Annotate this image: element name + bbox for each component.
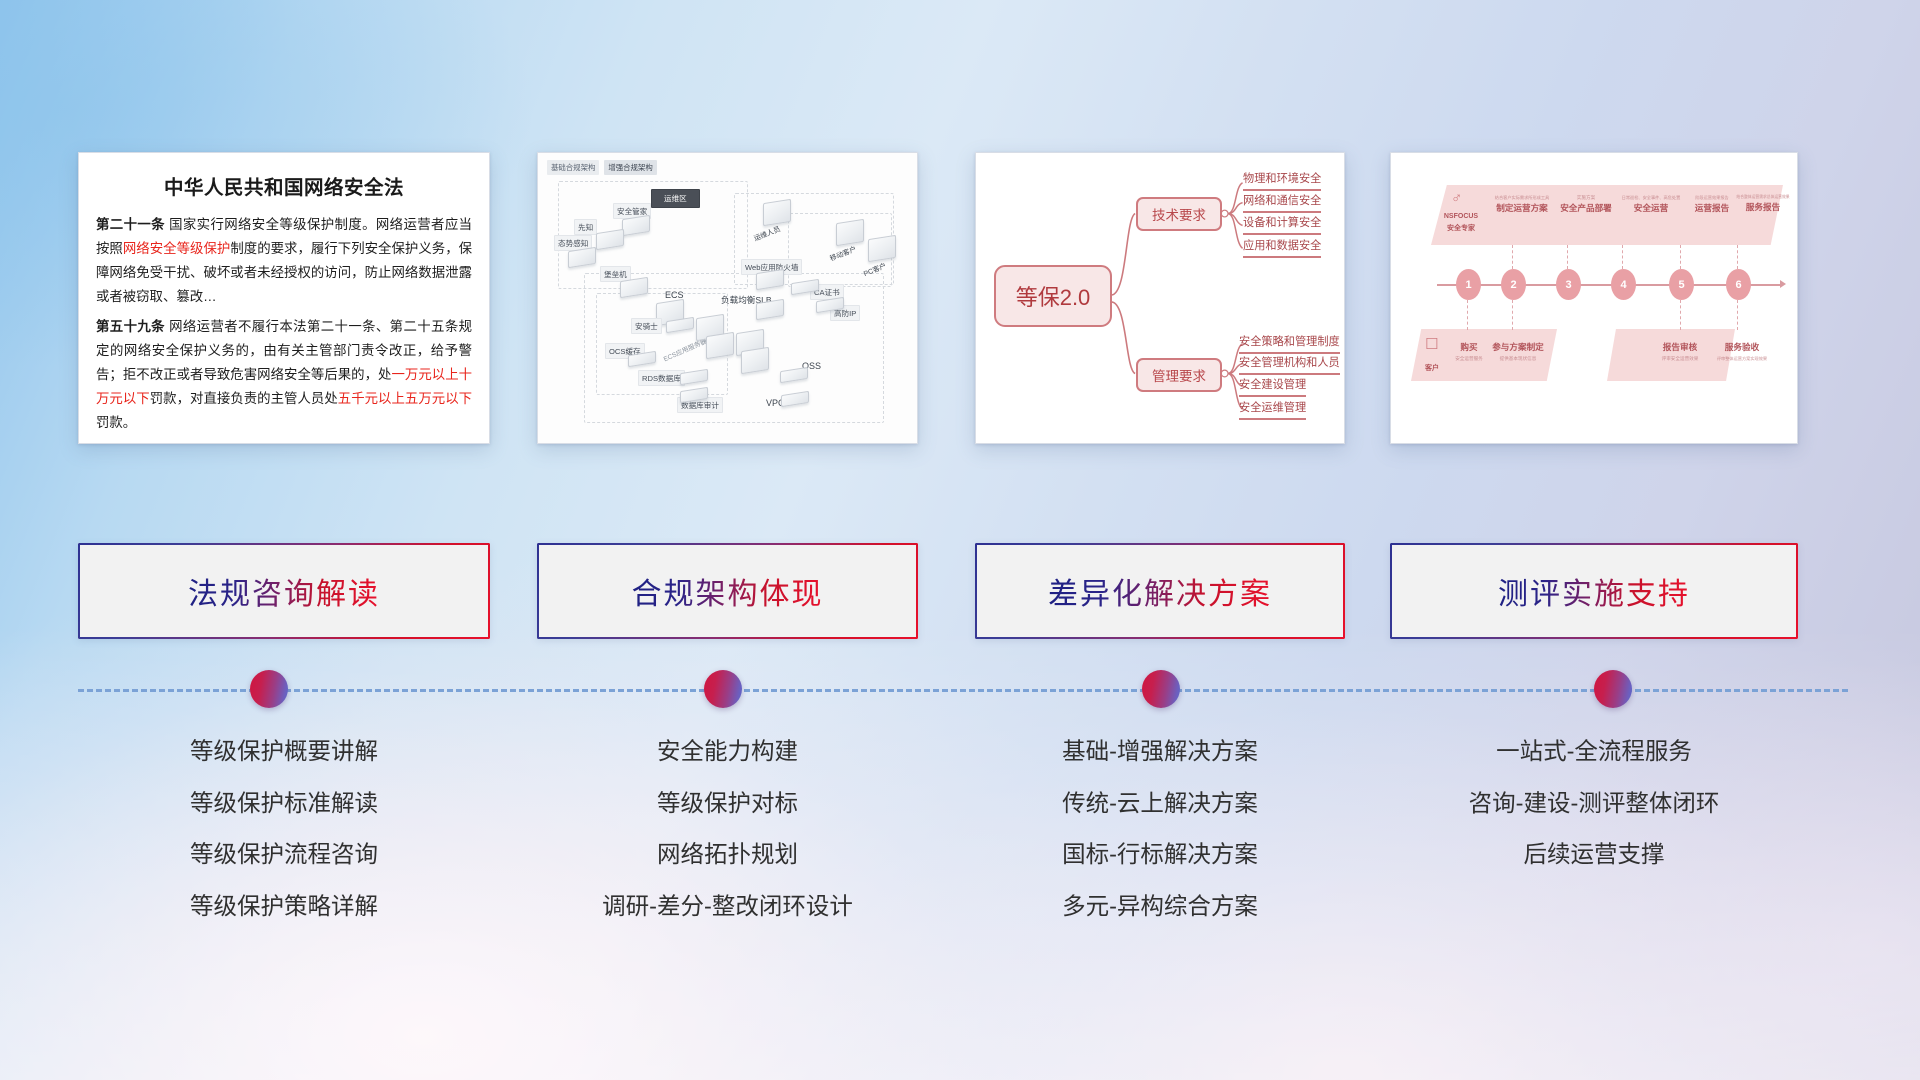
connector-dash-b1 [1467,300,1468,330]
node-icon-mobile [836,219,864,246]
mindmap-branch-management[interactable]: 管理要求 [1136,358,1222,392]
step-bottom-6-sub: 评审整体运营方案实现效果 [1709,356,1775,362]
node-icon-awareness [568,247,596,268]
node-icon-butler [622,215,650,236]
list-item: 网络拓扑规划 [537,843,918,867]
connector-dash-3 [1567,245,1568,269]
node-icon-gaofang [816,297,844,313]
connector-dash-b2 [1512,300,1513,330]
section-items-3: 基础-增强解决方案 传统-云上解决方案 国标-行标解决方案 多元-异构综合方案 [975,740,1345,946]
article-59-seg-4-highlight: 五千元以上五万元以下 [338,391,472,406]
mindmap-leaf-tech-3: 设备和计算安全 [1243,214,1321,235]
mindmap-leaf-mgmt-4: 安全运维管理 [1239,399,1306,420]
list-item: 基础-增强解决方案 [975,740,1345,764]
list-item: 等级保护概要讲解 [78,740,490,764]
label-xianzhi: 先知 [574,219,597,235]
image-cards-row: 中华人民共和国网络安全法 第二十一条 国家实行网络安全等级保护制度。网络运营者应… [0,152,1920,444]
step-bottom-1-title: 购买 [1447,341,1491,353]
law-article-59: 第五十九条 网络运营者不履行本法第二十一条、第二十五条规定的网络安全保护义务的，… [96,315,472,434]
mindmap-leaf-tech-2: 网络和通信安全 [1243,192,1321,213]
law-card-title: 中华人民共和国网络安全法 [96,171,472,200]
service-timeline-card[interactable]: ♂ NSFOCUS 安全专家 结合客户实际需求所形成工具 制定运营方案 实施方案… [1390,152,1798,444]
brand-subtitle: 安全专家 [1433,223,1489,233]
mindmap-leaf-tech-4: 应用和数据安全 [1243,237,1321,258]
timeline-dashed-line [78,689,1848,692]
node-icon-db-audit [680,387,708,403]
section-items-4: 一站式-全流程服务 咨询-建设-测评整体闭环 后续运营支撑 [1390,740,1798,895]
connector-dash-2 [1512,245,1513,269]
node-icon-rds [680,369,708,385]
step-bottom-5-sub: 评审安全运营效果 [1651,356,1709,362]
connector-dash-5 [1680,245,1681,269]
section-items-1: 等级保护概要讲解 等级保护标准解读 等级保护流程咨询 等级保护策略详解 [78,740,490,946]
timeline-number-1[interactable]: 1 [1456,269,1481,300]
mindmap-leaf-tech-1: 物理和环境安全 [1243,170,1321,191]
list-item: 传统-云上解决方案 [975,792,1345,816]
mindmap-leaf-mgmt-3: 安全建设管理 [1239,376,1306,397]
section-title-text-3: 差异化解决方案 [1048,569,1272,613]
article-21-seg-2-highlight: 网络安全等级保护 [123,241,230,256]
label-anqishi: 安骑士 [631,318,662,334]
article-59-seg-5: 罚款。 [96,415,136,430]
tab-basic-compliance[interactable]: 基础合规架构 [547,160,599,175]
brand-name: NSFOCUS [1433,213,1489,220]
step-bottom-1: 购买 安全运营服务 [1447,341,1491,363]
expert-person-icon: ♂ [1451,191,1462,206]
timeline-number-2[interactable]: 2 [1501,269,1526,300]
connector-dash-b6 [1737,300,1738,330]
timeline-number-3[interactable]: 3 [1556,269,1581,300]
section-items-2: 安全能力构建 等级保护对标 网络拓扑规划 调研-差分-整改闭环设计 [537,740,918,946]
label-rds-database: RDS数据库 [638,370,685,386]
section-titles-row: 法规咨询解读 合规架构体现 差异化解决方案 测评实施支持 [0,543,1920,639]
step-top-2-title: 制定运营方案 [1487,202,1557,214]
list-item: 咨询-建设-测评整体闭环 [1390,792,1798,816]
list-item: 后续运营支撑 [1390,843,1798,867]
step-bottom-5-title: 报告审核 [1651,341,1709,353]
list-item: 等级保护标准解读 [78,792,490,816]
section-title-text-4: 测评实施支持 [1498,569,1690,613]
architecture-tabs[interactable]: 基础合规架构 增强合规架构 [547,160,657,175]
article-21-label: 第二十一条 [96,217,165,232]
mindmap-branch-technical[interactable]: 技术要求 [1136,197,1222,231]
section-title-box-1[interactable]: 法规咨询解读 [78,543,490,639]
list-item: 一站式-全流程服务 [1390,740,1798,764]
timeline-number-6[interactable]: 6 [1726,269,1751,300]
mindmap-leaf-mgmt-1: 安全策略和管理制度 [1239,333,1340,354]
customer-person-icon: ☐ [1425,337,1438,352]
step-top-4: 日常巡检、安全事件、高危处置 安全运营 [1611,195,1691,214]
dengbao-mindmap-card[interactable]: 等保2.0 技术要求 管理要求 物理和环境安全 网络和通信安全 设备和计算安全 … [975,152,1345,444]
section-title-box-2[interactable]: 合规架构体现 [537,543,918,639]
timeline-node-2[interactable] [704,670,742,708]
node-icon-ocs [628,351,656,367]
node-icon-pc [868,235,896,262]
mindmap-leaf-mgmt-2: 安全管理机构和人员 [1239,354,1340,375]
law-article-21: 第二十一条 国家实行网络安全等级保护制度。网络运营者应当按照网络安全等级保护制度… [96,213,472,308]
timeline-number-5[interactable]: 5 [1669,269,1694,300]
node-icon-xianzhi [596,229,624,250]
section-title-text-2: 合规架构体现 [632,569,824,613]
step-bottom-2: 参与方案制定 提供基本现状信息 [1487,341,1549,363]
step-top-2: 结合客户实际需求所形成工具 制定运营方案 [1487,195,1557,214]
node-icon-app-4 [741,347,769,374]
timeline-arrow-icon [1780,280,1786,288]
step-top-6-sub: 结合整体运营需求总体运营效果 [1733,195,1793,200]
connector-dash-b5 [1680,300,1681,330]
list-item: 等级保护策略详解 [78,895,490,919]
node-icon-oss [780,367,808,383]
node-icon-ca [791,279,819,295]
node-icon-anqishi [666,317,694,333]
article-59-seg-3: 罚款，对直接负责的主管人员处 [150,391,338,406]
connector-dash-6 [1737,245,1738,269]
list-item: 多元-异构综合方案 [975,895,1345,919]
timeline-number-4[interactable]: 4 [1611,269,1636,300]
step-top-4-sub: 日常巡检、安全事件、高危处置 [1611,195,1691,201]
connector-dash-4 [1622,245,1623,269]
cybersecurity-law-card[interactable]: 中华人民共和国网络安全法 第二十一条 国家实行网络安全等级保护制度。网络运营者应… [78,152,490,444]
timeline-node-1[interactable] [250,670,288,708]
list-item: 调研-差分-整改闭环设计 [537,895,918,919]
section-title-box-4[interactable]: 测评实施支持 [1390,543,1798,639]
timeline-node-3[interactable] [1142,670,1180,708]
step-bottom-6: 服务验收 评审整体运营方案实现效果 [1709,341,1775,363]
step-bottom-1-sub: 安全运营服务 [1447,356,1491,362]
step-top-6: 结合整体运营需求总体运营效果 服务报告 [1733,195,1793,213]
timeline-node-4[interactable] [1594,670,1632,708]
list-item: 等级保护流程咨询 [78,843,490,867]
node-icon-waf [756,269,784,290]
slide-content: 中华人民共和国网络安全法 第二十一条 国家实行网络安全等级保护制度。网络运营者应… [0,0,1920,1080]
step-bottom-6-title: 服务验收 [1709,341,1775,353]
step-top-6-title: 服务报告 [1733,201,1793,213]
mindmap-root-node[interactable]: 等保2.0 [994,265,1112,327]
node-icon-bastion [620,277,648,298]
step-top-4-title: 安全运营 [1611,202,1691,214]
list-item: 国标-行标解决方案 [975,843,1345,867]
timeline-strip [0,660,1920,720]
customer-label: 客户 [1415,363,1449,373]
step-top-2-sub: 结合客户实际需求所形成工具 [1487,195,1557,201]
step-bottom-5: 报告审核 评审安全运营效果 [1651,341,1709,363]
node-icon-app-2 [706,332,734,359]
node-icon-vpc [781,391,809,407]
node-icon-slb [756,299,784,320]
section-title-text-1: 法规咨询解读 [188,569,380,613]
list-item: 安全能力构建 [537,740,918,764]
step-bottom-2-title: 参与方案制定 [1487,341,1549,353]
tab-enhanced-compliance[interactable]: 增强合规架构 [604,160,656,175]
article-59-label: 第五十九条 [96,319,165,334]
sections-items-row: 等级保护概要讲解 等级保护标准解读 等级保护流程咨询 等级保护策略详解 安全能力… [0,740,1920,970]
label-ops-zone: 运维区 [651,189,700,208]
step-bottom-2-sub: 提供基本现状信息 [1487,356,1549,362]
section-title-box-3[interactable]: 差异化解决方案 [975,543,1345,639]
cloud-architecture-card[interactable]: 基础合规架构 增强合规架构 运维区 安全管家 先知 态势感知 堡垒机 ECS [537,152,918,444]
list-item: 等级保护对标 [537,792,918,816]
